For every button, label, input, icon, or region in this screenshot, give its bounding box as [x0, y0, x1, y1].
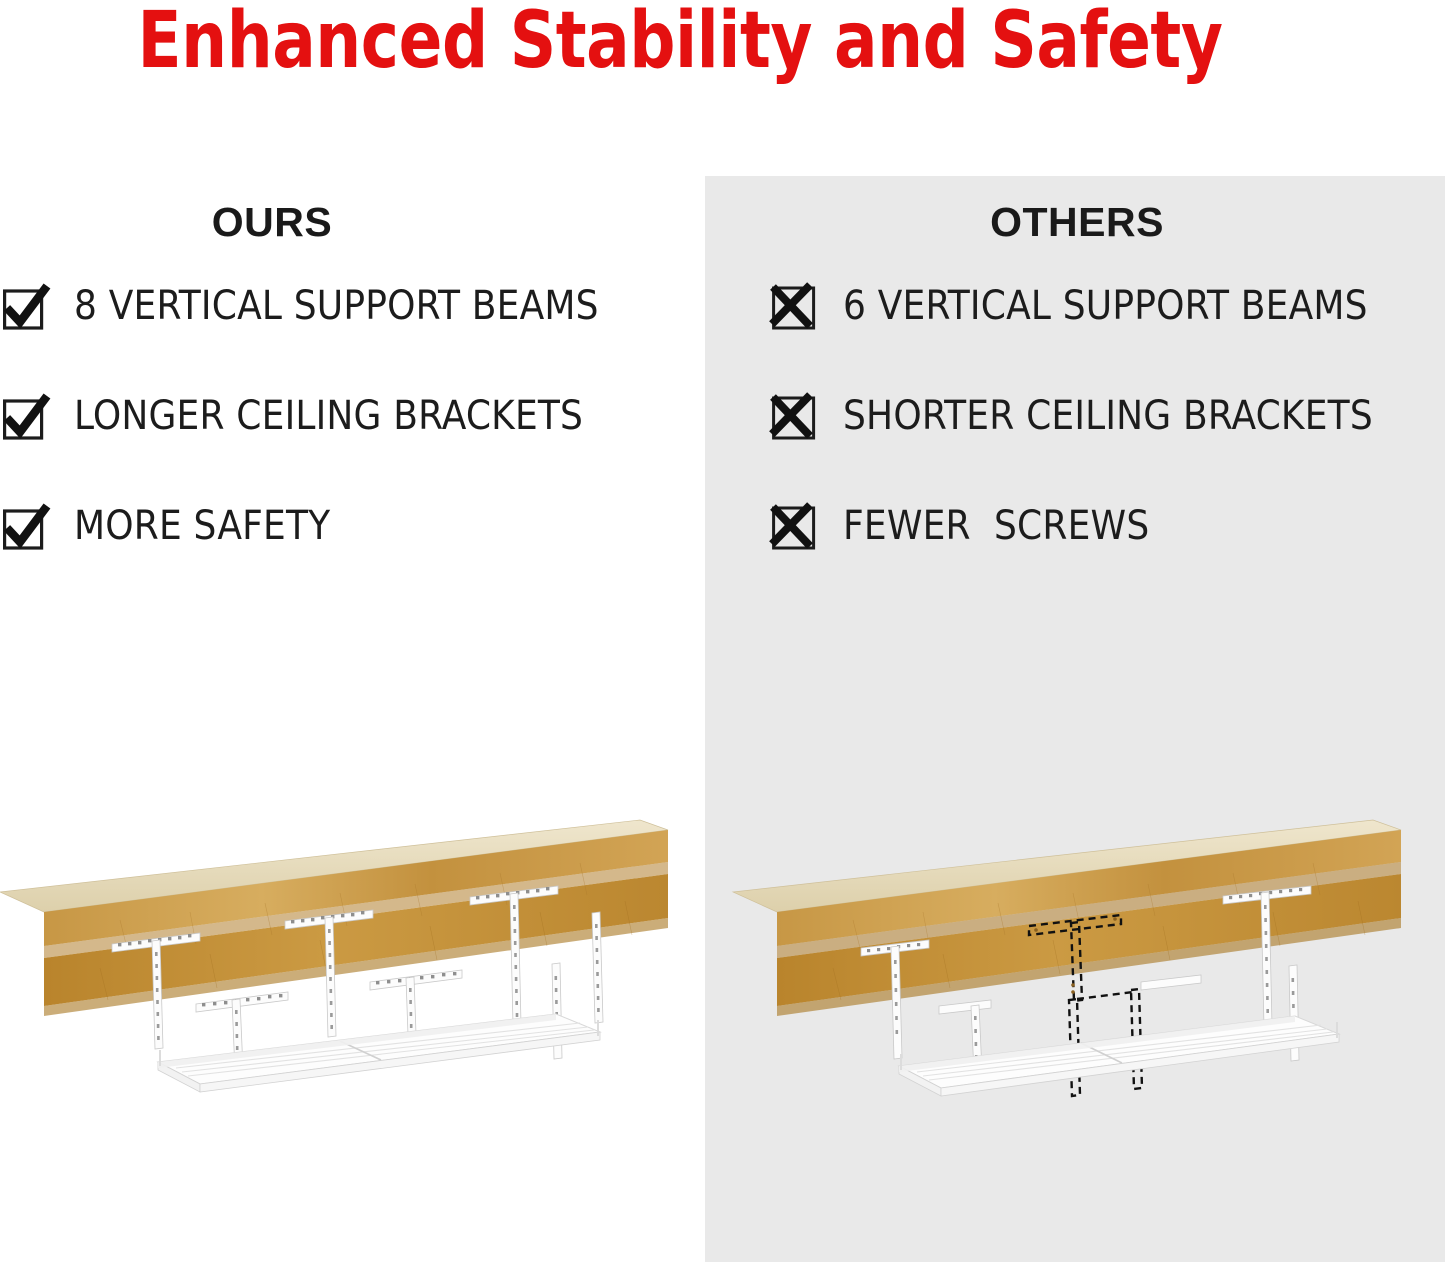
- check-mark-icon: [3, 504, 48, 549]
- feature-label: SHORTER CEILING BRACKETS: [843, 393, 1373, 439]
- infographic-page: Enhanced Stability and Safety OURS OTHER…: [0, 0, 1445, 1262]
- feature-label: FEWER SCREWS: [843, 503, 1149, 549]
- feature-row-others-2: SHORTER CEILING BRACKETS: [772, 393, 1373, 439]
- cross-mark-icon: [772, 504, 817, 549]
- check-mark-icon: [3, 284, 48, 329]
- feature-row-others-1: 6 VERTICAL SUPPORT BEAMS: [772, 283, 1368, 329]
- feature-row-ours-3: MORE SAFETY: [3, 503, 330, 549]
- product-image-ours: [0, 800, 700, 1130]
- cross-mark-icon: [772, 284, 817, 329]
- feature-row-ours-1: 8 VERTICAL SUPPORT BEAMS: [3, 283, 599, 329]
- feature-row-ours-2: LONGER CEILING BRACKETS: [3, 393, 583, 439]
- feature-label: 8 VERTICAL SUPPORT BEAMS: [74, 283, 599, 329]
- feature-label: LONGER CEILING BRACKETS: [74, 393, 583, 439]
- product-image-others: [733, 800, 1433, 1130]
- feature-label: 6 VERTICAL SUPPORT BEAMS: [843, 283, 1368, 329]
- feature-row-others-3: FEWER SCREWS: [772, 503, 1149, 549]
- feature-label: MORE SAFETY: [74, 503, 330, 549]
- column-heading-others: OTHERS: [877, 198, 1277, 246]
- cross-mark-icon: [772, 394, 817, 439]
- check-mark-icon: [3, 394, 48, 439]
- page-title: Enhanced Stability and Safety: [54, 0, 1305, 84]
- column-heading-ours: OURS: [72, 198, 472, 246]
